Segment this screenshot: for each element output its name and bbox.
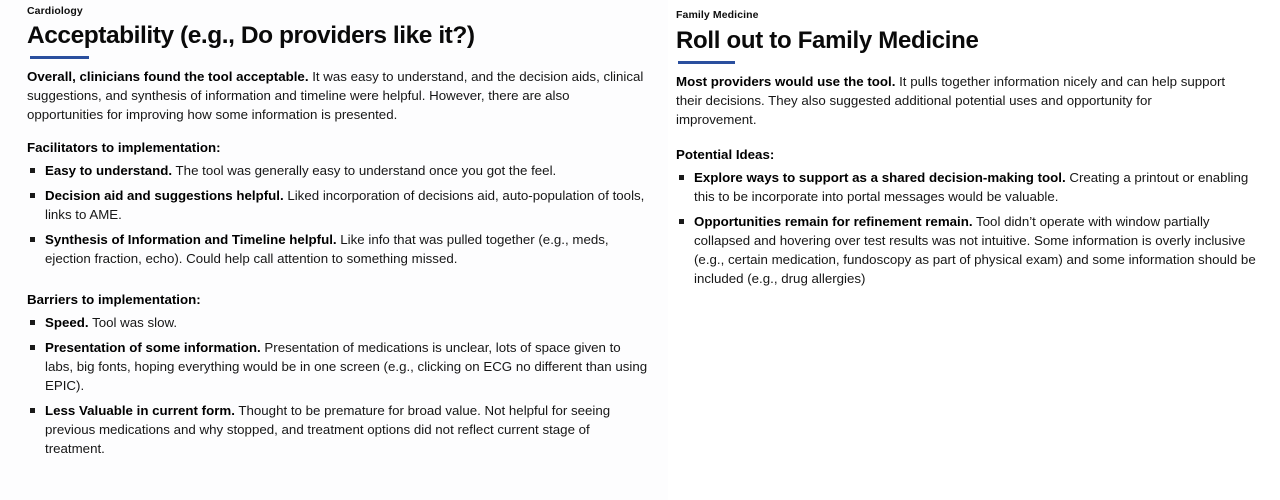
list-item: Decision aid and suggestions helpful. Li… (27, 186, 652, 224)
list-item-lead: Explore ways to support as a shared deci… (694, 170, 1066, 185)
list-item-rest: Tool was slow. (89, 315, 177, 330)
barriers-heading: Barriers to implementation: (27, 291, 652, 309)
barriers-list: Speed. Tool was slow. Presentation of so… (27, 313, 652, 458)
list-item: Explore ways to support as a shared deci… (676, 168, 1256, 206)
list-item-lead: Opportunities remain for refinement rema… (694, 214, 973, 229)
list-item-rest: The tool was generally easy to understan… (172, 163, 556, 178)
list-item: Easy to understand. The tool was general… (27, 161, 652, 180)
list-item-lead: Synthesis of Information and Timeline he… (45, 232, 337, 247)
potential-ideas-list: Explore ways to support as a shared deci… (676, 168, 1262, 288)
intro-lead-left: Overall, clinicians found the tool accep… (27, 69, 309, 84)
slide-root: Cardiology Acceptability (e.g., Do provi… (0, 0, 1280, 500)
intro-paragraph-left: Overall, clinicians found the tool accep… (27, 67, 649, 124)
intro-lead-right: Most providers would use the tool. (676, 74, 895, 89)
eyebrow-family-medicine: Family Medicine (676, 9, 1262, 22)
eyebrow-cardiology: Cardiology (27, 5, 652, 18)
accent-underline-left (30, 56, 89, 59)
list-item: Synthesis of Information and Timeline he… (27, 230, 652, 268)
list-item: Presentation of some information. Presen… (27, 338, 652, 395)
list-item-lead: Decision aid and suggestions helpful. (45, 188, 284, 203)
list-item: Opportunities remain for refinement rema… (676, 212, 1256, 288)
section-spacer (27, 268, 652, 276)
facilitators-list: Easy to understand. The tool was general… (27, 161, 652, 268)
accent-underline-right (678, 61, 735, 64)
list-item: Speed. Tool was slow. (27, 313, 652, 332)
intro-paragraph-right: Most providers would use the tool. It pu… (676, 72, 1236, 129)
list-item: Less Valuable in current form. Thought t… (27, 401, 652, 458)
list-item-lead: Presentation of some information. (45, 340, 261, 355)
panel-cardiology: Cardiology Acceptability (e.g., Do provi… (0, 0, 668, 500)
facilitators-heading: Facilitators to implementation: (27, 139, 652, 157)
potential-ideas-heading: Potential Ideas: (676, 146, 1262, 164)
list-item-lead: Easy to understand. (45, 163, 172, 178)
list-item-lead: Less Valuable in current form. (45, 403, 235, 418)
page-title-left: Acceptability (e.g., Do providers like i… (27, 22, 652, 50)
list-item-lead: Speed. (45, 315, 89, 330)
panel-family-medicine: Family Medicine Roll out to Family Medic… (668, 0, 1280, 500)
page-title-right: Roll out to Family Medicine (676, 27, 1262, 55)
